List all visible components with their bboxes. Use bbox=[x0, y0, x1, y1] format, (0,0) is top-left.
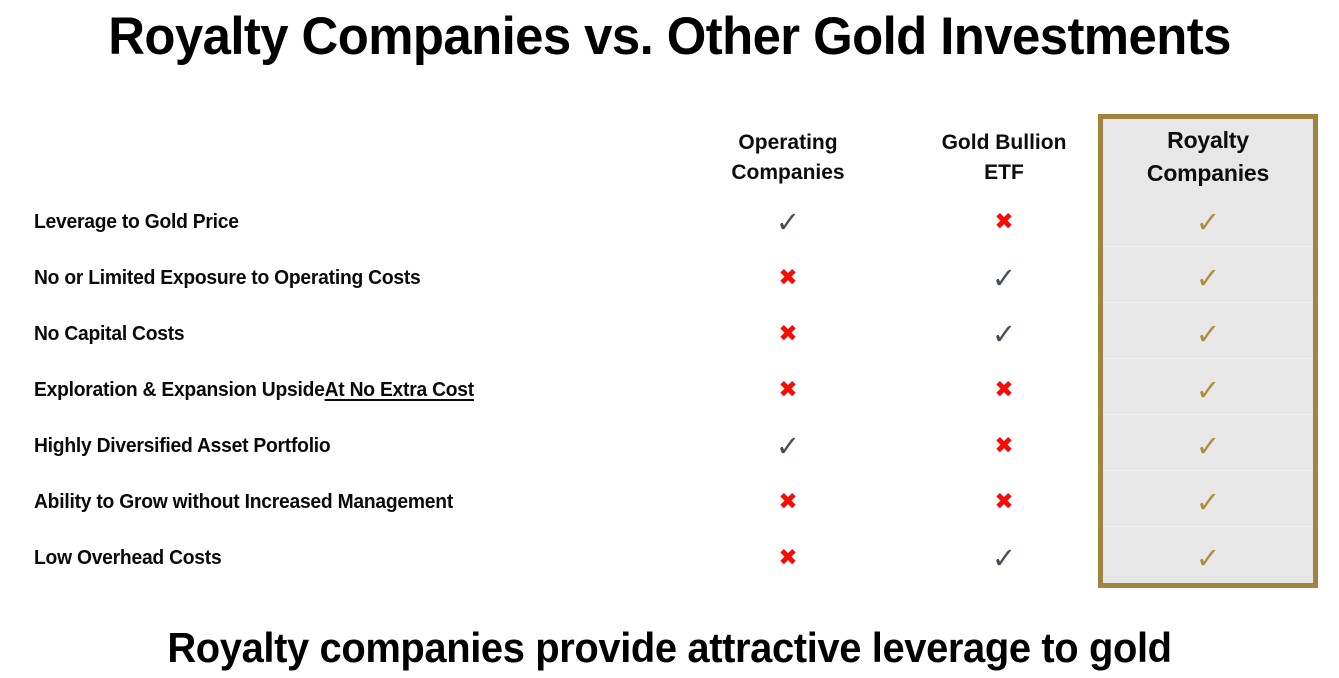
column-header-line1: Operating bbox=[688, 128, 888, 158]
row-label-text: Highly Diversified Asset Portfolio bbox=[34, 434, 330, 458]
check-icon: ✓ bbox=[688, 418, 888, 477]
check-icon: ✓ bbox=[1104, 194, 1312, 253]
row-divider bbox=[1103, 470, 1313, 471]
page-title: Royalty Companies vs. Other Gold Investm… bbox=[27, 0, 1312, 72]
row-label: Leverage to Gold Price bbox=[34, 194, 239, 250]
column-header-gold-bullion-etf: Gold Bullion ETF bbox=[904, 128, 1104, 188]
check-icon: ✓ bbox=[688, 194, 888, 253]
column-header-operating-companies: Operating Companies bbox=[688, 128, 888, 188]
cross-icon: ✖ bbox=[904, 418, 1104, 474]
row-divider bbox=[1103, 414, 1313, 415]
table-row: Exploration & Expansion Upside At No Ext… bbox=[0, 362, 1339, 418]
check-icon: ✓ bbox=[904, 530, 1104, 589]
row-label-text: No Capital Costs bbox=[34, 322, 184, 346]
row-divider bbox=[1103, 526, 1313, 527]
column-header-line1: Royalty bbox=[1104, 124, 1312, 157]
row-label: Exploration & Expansion Upside At No Ext… bbox=[34, 362, 474, 418]
row-label: No Capital Costs bbox=[34, 306, 184, 362]
column-header-royalty-companies: Royalty Companies bbox=[1104, 124, 1312, 190]
row-label-text: Low Overhead Costs bbox=[34, 546, 221, 570]
cross-icon: ✖ bbox=[688, 362, 888, 418]
table-row: Leverage to Gold Price✓✖✓ bbox=[0, 194, 1339, 250]
row-label: Ability to Grow without Increased Manage… bbox=[34, 474, 453, 530]
table-row: Low Overhead Costs✖✓✓ bbox=[0, 530, 1339, 586]
table-row: No or Limited Exposure to Operating Cost… bbox=[0, 250, 1339, 306]
table-row: Highly Diversified Asset Portfolio✓✖✓ bbox=[0, 418, 1339, 474]
check-icon: ✓ bbox=[904, 306, 1104, 365]
bottom-tagline: Royalty companies provide attractive lev… bbox=[33, 618, 1305, 678]
row-label-text: No or Limited Exposure to Operating Cost… bbox=[34, 266, 421, 290]
row-label-text: Exploration & Expansion Upside bbox=[34, 378, 325, 402]
row-label: Highly Diversified Asset Portfolio bbox=[34, 418, 330, 474]
row-label-text: Leverage to Gold Price bbox=[34, 210, 239, 234]
row-label: No or Limited Exposure to Operating Cost… bbox=[34, 250, 421, 306]
check-icon: ✓ bbox=[1104, 306, 1312, 365]
check-icon: ✓ bbox=[1104, 530, 1312, 589]
check-icon: ✓ bbox=[1104, 250, 1312, 309]
check-icon: ✓ bbox=[1104, 474, 1312, 533]
check-icon: ✓ bbox=[1104, 418, 1312, 477]
row-divider bbox=[1103, 246, 1313, 247]
cross-icon: ✖ bbox=[904, 474, 1104, 530]
cross-icon: ✖ bbox=[688, 250, 888, 306]
cross-icon: ✖ bbox=[904, 194, 1104, 250]
row-label: Low Overhead Costs bbox=[34, 530, 221, 586]
column-header-line1: Gold Bullion bbox=[904, 128, 1104, 158]
cross-icon: ✖ bbox=[904, 362, 1104, 418]
row-label-text: Ability to Grow without Increased Manage… bbox=[34, 490, 453, 514]
check-icon: ✓ bbox=[904, 250, 1104, 309]
row-divider bbox=[1103, 358, 1313, 359]
row-divider bbox=[1103, 302, 1313, 303]
column-header-line2: ETF bbox=[904, 158, 1104, 188]
column-header-line2: Companies bbox=[688, 158, 888, 188]
table-row: No Capital Costs✖✓✓ bbox=[0, 306, 1339, 362]
cross-icon: ✖ bbox=[688, 530, 888, 586]
table-row: Ability to Grow without Increased Manage… bbox=[0, 474, 1339, 530]
cross-icon: ✖ bbox=[688, 474, 888, 530]
check-icon: ✓ bbox=[1104, 362, 1312, 421]
row-label-emphasis: At No Extra Cost bbox=[325, 378, 474, 402]
cross-icon: ✖ bbox=[688, 306, 888, 362]
column-header-line2: Companies bbox=[1104, 157, 1312, 190]
